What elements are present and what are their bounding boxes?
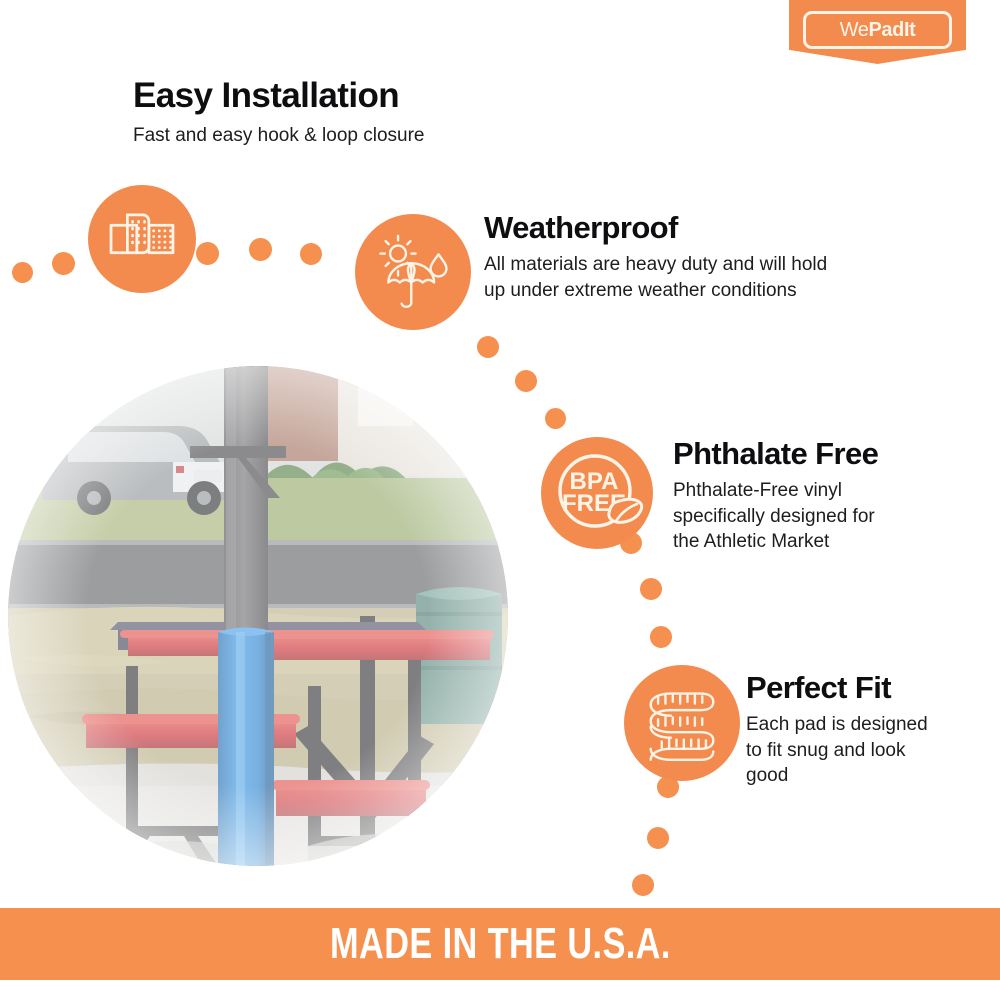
- feature-title: Perfect Fit: [746, 672, 928, 704]
- product-photo: [8, 366, 508, 866]
- trail-dot: [477, 336, 499, 358]
- logo-outline-pill: WePadIt: [803, 11, 952, 49]
- trail-dot: [632, 874, 654, 896]
- logo-text: WePadIt: [840, 20, 916, 40]
- feature-title: Easy Installation: [133, 78, 425, 114]
- measuring-tape-icon: [624, 665, 740, 781]
- feature-easy-installation: Easy Installation Fast and easy hook & l…: [133, 78, 425, 149]
- feature-body-line: Phthalate-Free vinyl: [673, 478, 878, 503]
- feature-body-line: the Athletic Market: [673, 529, 878, 554]
- feature-perfect-fit: Perfect Fit Each pad is designed to fit …: [746, 672, 928, 789]
- logo-text-it: It: [904, 19, 915, 41]
- trail-dot: [196, 242, 219, 265]
- feature-phthalate-free: Phthalate Free Phthalate-Free vinyl spec…: [673, 438, 878, 555]
- bpa-free-badge-icon: BPA FREE: [541, 437, 653, 549]
- sun-umbrella-rain-icon: [355, 214, 471, 330]
- feature-body: Each pad is designed to fit snug and loo…: [746, 712, 928, 788]
- feature-body: All materials are heavy duty and will ho…: [484, 252, 827, 303]
- logo-text-pad: Pad: [868, 19, 903, 41]
- feature-body: Fast and easy hook & loop closure: [133, 123, 425, 148]
- velcro-strap-icon: [88, 185, 196, 293]
- trail-dot: [249, 238, 272, 261]
- feature-body-line: specifically designed for: [673, 504, 878, 529]
- made-in-usa-text: MADE IN THE U.S.A.: [330, 919, 671, 969]
- infographic-stage: WePadIt: [0, 0, 1000, 987]
- feature-body: Phthalate-Free vinyl specifically design…: [673, 478, 878, 554]
- trail-dot: [545, 408, 566, 429]
- made-in-usa-banner: MADE IN THE U.S.A.: [0, 908, 1000, 980]
- feature-weatherproof: Weatherproof All materials are heavy dut…: [484, 212, 827, 303]
- logo-text-we: We: [840, 19, 869, 41]
- trail-dot: [52, 252, 75, 275]
- feature-body-line: up under extreme weather conditions: [484, 278, 827, 303]
- feature-body-line: to fit snug and look: [746, 738, 928, 763]
- trail-dot: [515, 370, 537, 392]
- trail-dot: [12, 262, 33, 283]
- feature-body-line: good: [746, 763, 928, 788]
- brand-logo[interactable]: WePadIt: [789, 0, 966, 64]
- trail-dot: [300, 243, 322, 265]
- feature-body-line: All materials are heavy duty and will ho…: [484, 252, 827, 277]
- trail-dot: [640, 578, 662, 600]
- feature-title: Phthalate Free: [673, 438, 878, 470]
- feature-body-line: Each pad is designed: [746, 712, 928, 737]
- feature-title: Weatherproof: [484, 212, 827, 244]
- leaf-icon: [609, 499, 642, 522]
- trail-dot: [650, 626, 672, 648]
- trail-dot: [647, 827, 669, 849]
